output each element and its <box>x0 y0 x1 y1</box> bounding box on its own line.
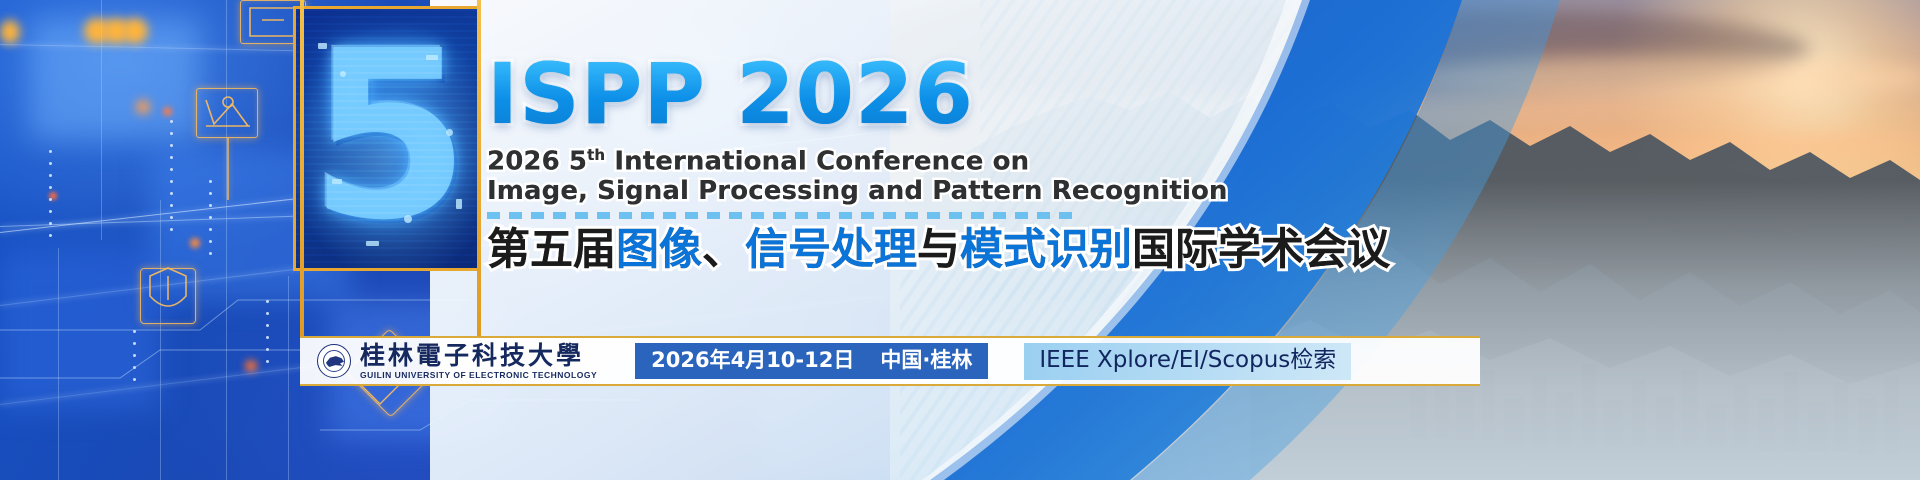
banner-info-bar: 桂林電子科技大學 GUILIN UNIVERSITY OF ELECTRONIC… <box>300 336 1480 386</box>
indexing-chip: IEEE Xplore/EI/Scopus检索 <box>1024 343 1351 380</box>
cn-seg-4: 与 <box>917 225 960 275</box>
chinese-title: 第五届图像、信号处理与模式识别国际学术会议 <box>487 227 1390 274</box>
cn-seg-5: 模式识别 <box>960 225 1132 275</box>
host-university: 桂林電子科技大學 GUILIN UNIVERSITY OF ELECTRONIC… <box>317 343 597 380</box>
cn-seg-1: 图像 <box>616 225 702 275</box>
dashed-accent-rule <box>487 212 1077 219</box>
banner-content: ISPP 2026 ISPP 2026 2026 5th Internation… <box>0 0 1920 480</box>
university-name-en: GUILIN UNIVERSITY OF ELECTRONIC TECHNOLO… <box>360 371 597 380</box>
conference-date: 2026年4月10-12日 <box>651 350 854 371</box>
cn-seg-2: 、 <box>702 225 745 275</box>
conference-title: ISPP 2026 <box>487 52 974 136</box>
cn-seg-6: 国际学术会议 <box>1132 225 1390 275</box>
cn-seg-0: 第五届 <box>487 225 616 275</box>
subtitle-line2: Image, Signal Processing and Pattern Rec… <box>487 178 1228 204</box>
conference-banner: 5 ISPP 2026 ISPP 2026 2026 5th Internati… <box>0 0 1920 480</box>
university-name-cn: 桂林電子科技大學 <box>360 343 597 368</box>
university-seal-icon <box>317 344 351 378</box>
subtitle-line1: 2026 5th International Conference on <box>487 148 1029 175</box>
cn-seg-3: 信号处理 <box>745 225 917 275</box>
date-location-chip: 2026年4月10-12日 中国·桂林 <box>635 343 988 379</box>
conference-location: 中国·桂林 <box>880 350 972 371</box>
